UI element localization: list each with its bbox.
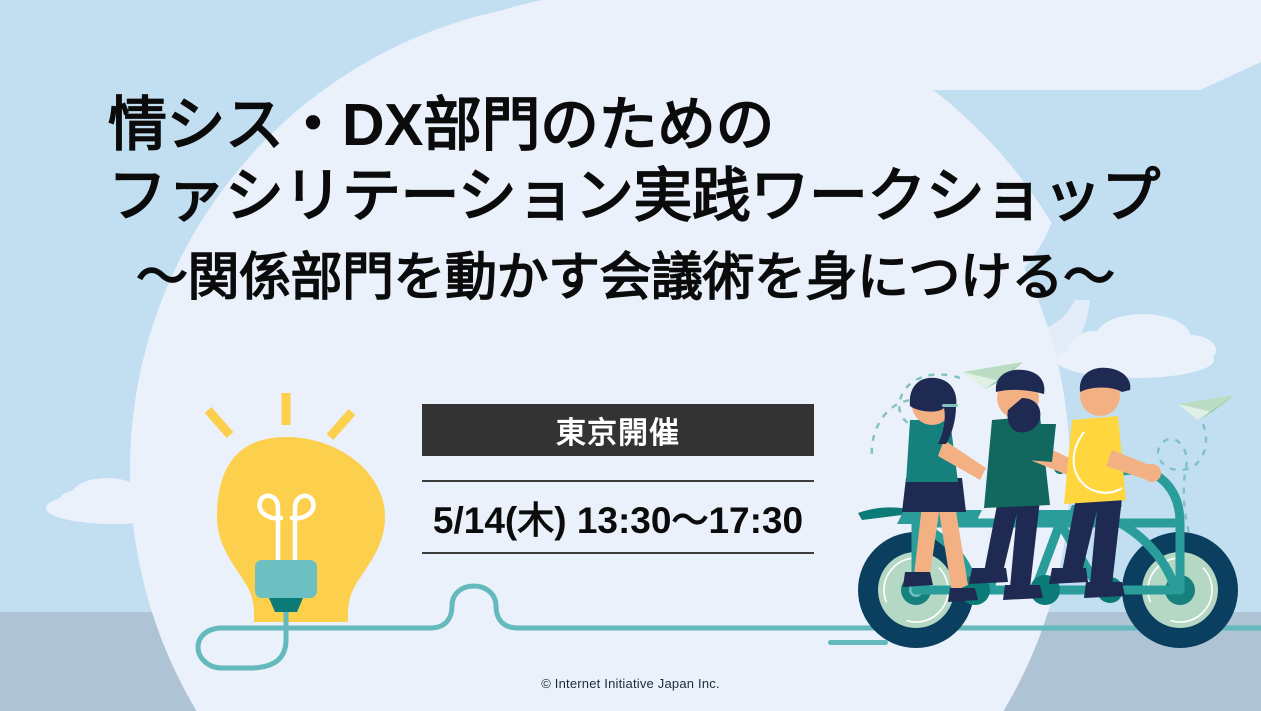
bulb-base [255,560,317,598]
title-line-2: ファシリテーション実践ワークショップ [0,167,1261,226]
event-poster: 情シス・DX部門のための ファシリテーション実践ワークショップ ～関係部門を動か… [0,0,1261,711]
poster-subtitle: ～関係部門を動かす会議術を身につける～ [0,252,1261,304]
divider-bottom [422,552,814,554]
copyright-notice: © Internet Initiative Japan Inc. [0,676,1261,691]
venue-label: 東京開催 [556,408,680,452]
title-line-1: 情シス・DX部門のための [0,96,1261,155]
datetime-row: 5/14(木) 13:30～17:30 [422,482,814,552]
accent-line-small [942,404,958,407]
accent-line-left [828,640,888,645]
event-info-card: 東京開催 5/14(木) 13:30～17:30 [422,404,814,554]
venue-badge: 東京開催 [422,404,814,456]
datetime-label: 5/14(木) 13:30～17:30 [433,490,803,544]
